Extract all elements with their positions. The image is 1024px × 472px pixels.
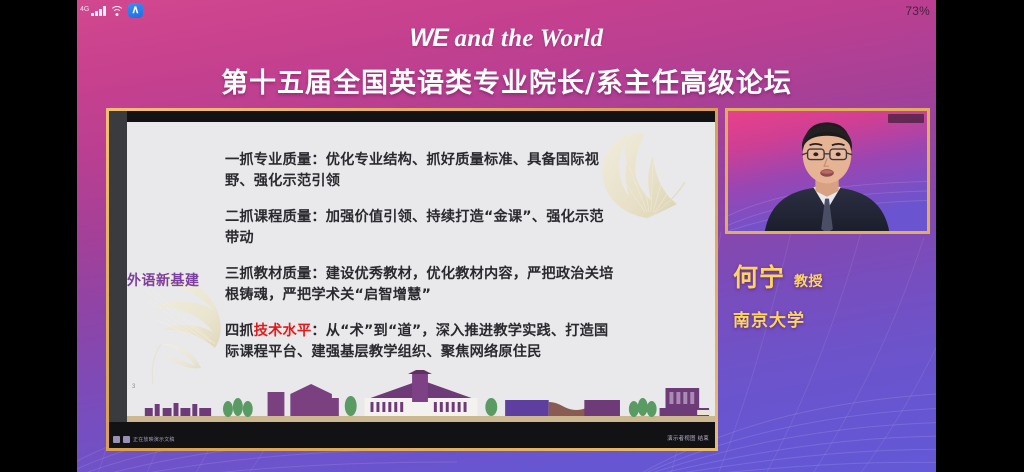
presenter-controls[interactable]: 演示者视图 结束 <box>667 434 709 442</box>
battery-percent-label: 73% <box>905 4 930 18</box>
screen-share-icon <box>113 436 120 443</box>
signal-bars-icon <box>91 5 106 16</box>
forum-title: 第十五届全国英语类专业院长/系主任高级论坛 <box>77 61 936 100</box>
slide-side-tag: 外语新基建 <box>127 270 200 290</box>
speaker-rank: 教授 <box>794 271 823 291</box>
status-bar: 4G ∧ 73% <box>77 0 936 21</box>
presentation-status-label: 正在放映演示文稿 <box>133 436 175 443</box>
wifi-icon <box>110 5 124 16</box>
paragraph-text: 三抓教材质量：建设优秀教材，优化教材内容，严把政治关培根铸魂，严把学术关“启智增… <box>225 266 613 303</box>
paragraph-highlight: 技术水平 <box>254 323 312 339</box>
speaker-info: 何宁 教授 南京大学 <box>733 258 823 331</box>
status-bar-right: 73% <box>905 4 930 18</box>
slide-canvas: 外语新基建 一抓专业质量：优化专业结构、抓好质量标准、具备国际视野、强化示范引领… <box>127 122 715 422</box>
paragraph-text: 二抓课程质量：加强价值引领、持续打造“金课”、强化示范带动 <box>225 209 604 246</box>
app-badge-icon: ∧ <box>128 3 143 18</box>
presentation-status: 正在放映演示文稿 <box>113 436 175 443</box>
speaker-name-row: 何宁 教授 <box>733 258 823 294</box>
video-tile-badge <box>888 114 924 123</box>
speaker-video-tile[interactable] <box>725 108 930 234</box>
slide-paragraph: 二抓课程质量：加强价值引领、持续打造“金课”、强化示范带动 <box>225 207 615 249</box>
slide-app-bottombar: 正在放映演示文稿 演示者视图 结束 <box>109 422 715 448</box>
user-icon <box>123 436 130 443</box>
slide-app-topbar <box>109 111 715 122</box>
slide-app-sidebar <box>109 111 127 448</box>
speaker-name: 何宁 <box>733 258 785 294</box>
slide-paragraph: 四抓技术水平：从“术”到“道”，深入推进教学实践、打造国际课程平台、建强基层教学… <box>225 321 615 363</box>
presentation-slide-frame[interactable]: 外语新基建 一抓专业质量：优化专业结构、抓好质量标准、具备国际视野、强化示范引领… <box>106 108 718 451</box>
slide-paragraph: 三抓教材质量：建设优秀教材，优化教材内容，严把政治关培根铸魂，严把学术关“启智增… <box>225 264 615 306</box>
event-headline: WE and the World 第十五届全国英语类专业院长/系主任高级论坛 <box>77 24 936 100</box>
slide-page-number: 3 <box>132 384 135 390</box>
brand-title: WE and the World <box>77 24 936 53</box>
paragraph-text: 一抓专业质量：优化专业结构、抓好质量标准、具备国际视野、强化示范引领 <box>225 152 599 189</box>
brand-we-logo: WE <box>410 24 448 52</box>
slide-body-text: 一抓专业质量：优化专业结构、抓好质量标准、具备国际视野、强化示范引领 二抓课程质… <box>225 150 615 378</box>
slide-paragraph: 一抓专业质量：优化专业结构、抓好质量标准、具备国际视野、强化示范引领 <box>225 150 615 192</box>
paragraph-text: 四抓 <box>225 323 254 339</box>
network-type-label: 4G <box>80 6 89 13</box>
status-bar-left: 4G ∧ <box>80 3 143 18</box>
speaker-organization: 南京大学 <box>733 306 823 331</box>
live-stream-stage: 4G ∧ 73% WE and the World 第十五届全国英语类专业院长/… <box>77 0 936 472</box>
speaker-video-feed <box>728 111 927 231</box>
phone-screen: 4G ∧ 73% WE and the World 第十五届全国英语类专业院长/… <box>0 0 1024 472</box>
presenter-view-label[interactable]: 演示者视图 结束 <box>667 434 709 442</box>
brand-rest-text: and the World <box>448 25 603 52</box>
